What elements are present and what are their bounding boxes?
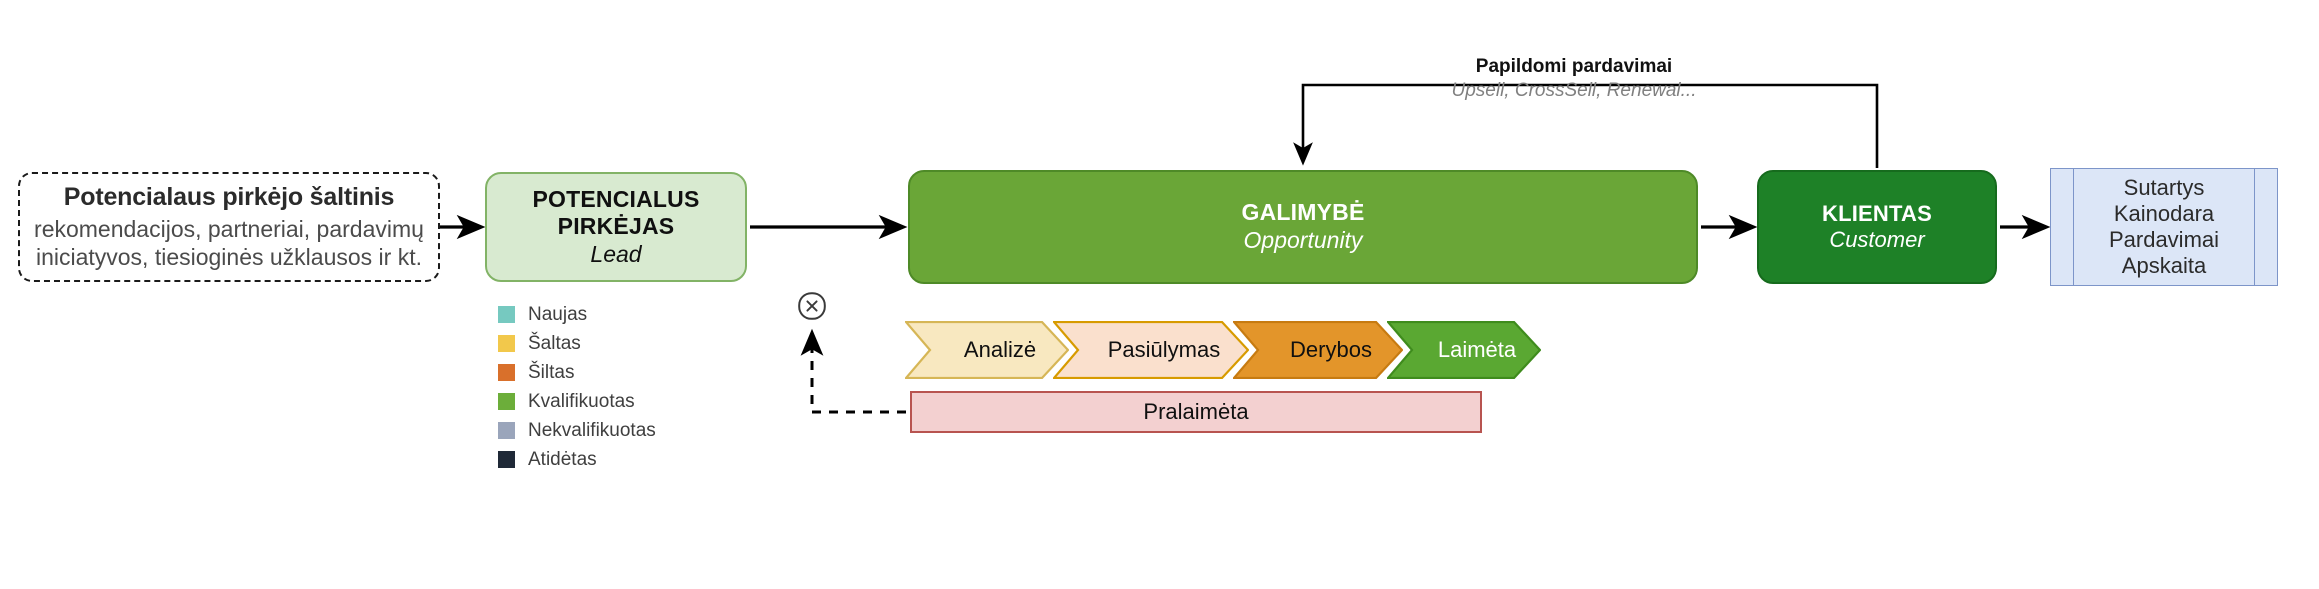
legend-item-label: Kvalifikuotas (528, 391, 635, 413)
legend-swatch-icon (498, 393, 515, 410)
legend-swatch-icon (498, 364, 515, 381)
legend-item: Naujas (498, 300, 656, 329)
pipeline-step[interactable]: Analizė (905, 321, 1069, 379)
lead-status-legend: NaujasŠaltasŠiltasKvalifikuotasNekvalifi… (498, 300, 656, 474)
legend-swatch-icon (498, 306, 515, 323)
legend-item: Šaltas (498, 329, 656, 358)
diagram-canvas: Potencialaus pirkėjo šaltinis rekomendac… (0, 0, 2319, 589)
pipeline-step-lost-label: Pralaimėta (1143, 399, 1248, 425)
legend-swatch-icon (498, 451, 515, 468)
pipeline-step-label: Pasiūlymas (1082, 337, 1220, 363)
legend-item-label: Naujas (528, 304, 587, 326)
legend-item-label: Atidėtas (528, 449, 597, 471)
pipeline-step-lost[interactable]: Pralaimėta (910, 391, 1482, 433)
legend-item: Šiltas (498, 358, 656, 387)
pipeline-step-label: Analizė (938, 337, 1036, 363)
pipeline-step-label: Derybos (1264, 337, 1372, 363)
opportunity-pipeline: AnalizėPasiūlymasDerybosLaimėta (0, 0, 2319, 589)
legend-item: Atidėtas (498, 445, 656, 474)
legend-swatch-icon (498, 335, 515, 352)
pipeline-step[interactable]: Pasiūlymas (1053, 321, 1249, 379)
legend-swatch-icon (498, 422, 515, 439)
legend-item: Kvalifikuotas (498, 387, 656, 416)
legend-item: Nekvalifikuotas (498, 416, 656, 445)
pipeline-step[interactable]: Derybos (1233, 321, 1403, 379)
pipeline-step[interactable]: Laimėta (1387, 321, 1541, 379)
legend-item-label: Šiltas (528, 362, 574, 384)
legend-item-label: Nekvalifikuotas (528, 420, 656, 442)
legend-item-label: Šaltas (528, 333, 581, 355)
pipeline-step-label: Laimėta (1412, 337, 1516, 363)
